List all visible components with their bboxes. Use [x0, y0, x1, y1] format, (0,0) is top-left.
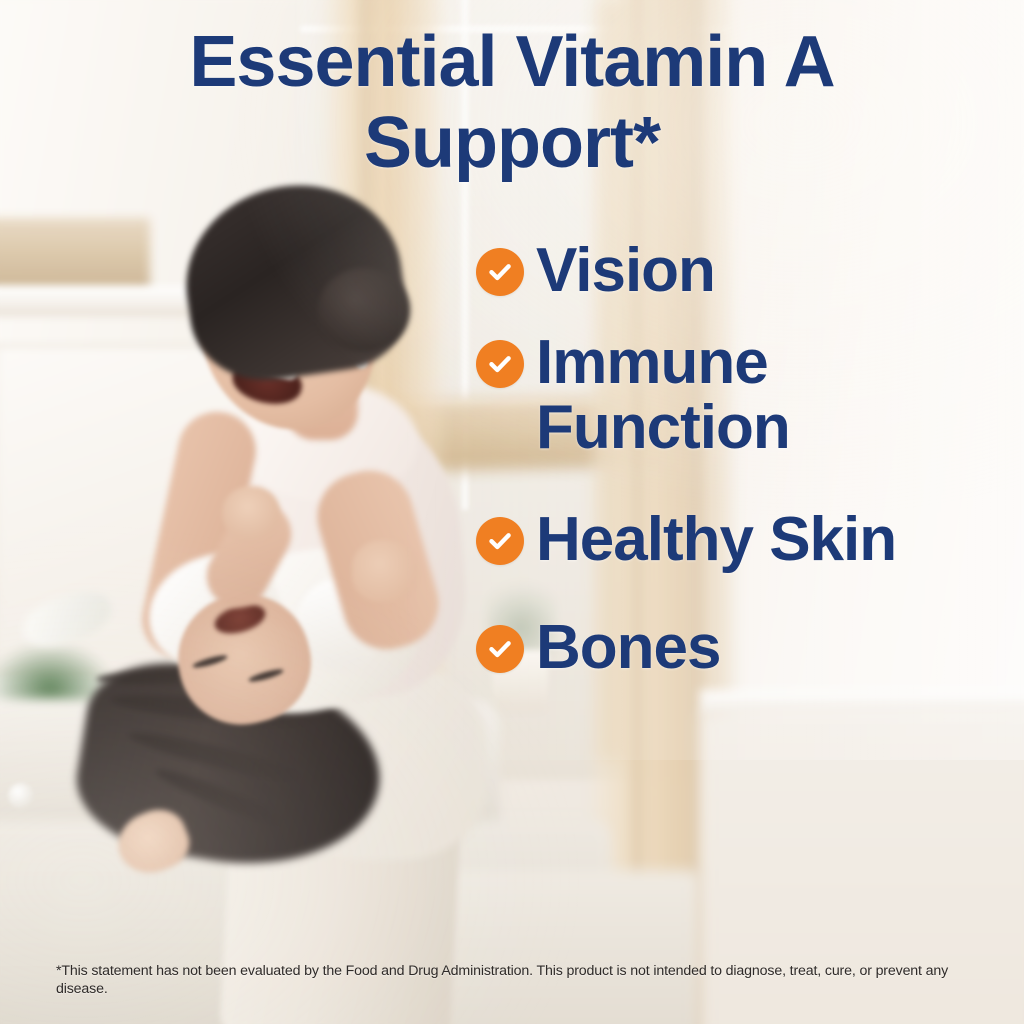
benefit-label: Vision — [536, 238, 715, 304]
benefits-list: Vision Immune Function Healthy Skin — [476, 238, 1016, 707]
benefit-label: Immune Function — [536, 330, 790, 461]
fda-disclaimer: *This statement has not been evaluated b… — [56, 962, 976, 999]
check-circle-icon — [476, 340, 524, 388]
check-circle-icon — [476, 517, 524, 565]
benefit-label: Healthy Skin — [536, 507, 896, 573]
text-overlay: Essential Vitamin A Support* Vision Immu… — [0, 0, 1024, 1024]
benefit-item-healthy-skin: Healthy Skin — [476, 507, 1016, 573]
benefit-item-bones: Bones — [476, 615, 1016, 681]
benefit-item-vision: Vision — [476, 238, 1016, 304]
headline: Essential Vitamin A Support* — [0, 22, 1024, 183]
promo-image: Essential Vitamin A Support* Vision Immu… — [0, 0, 1024, 1024]
benefit-label: Bones — [536, 615, 720, 681]
check-circle-icon — [476, 625, 524, 673]
benefit-item-immune-function: Immune Function — [476, 330, 1016, 461]
check-circle-icon — [476, 248, 524, 296]
